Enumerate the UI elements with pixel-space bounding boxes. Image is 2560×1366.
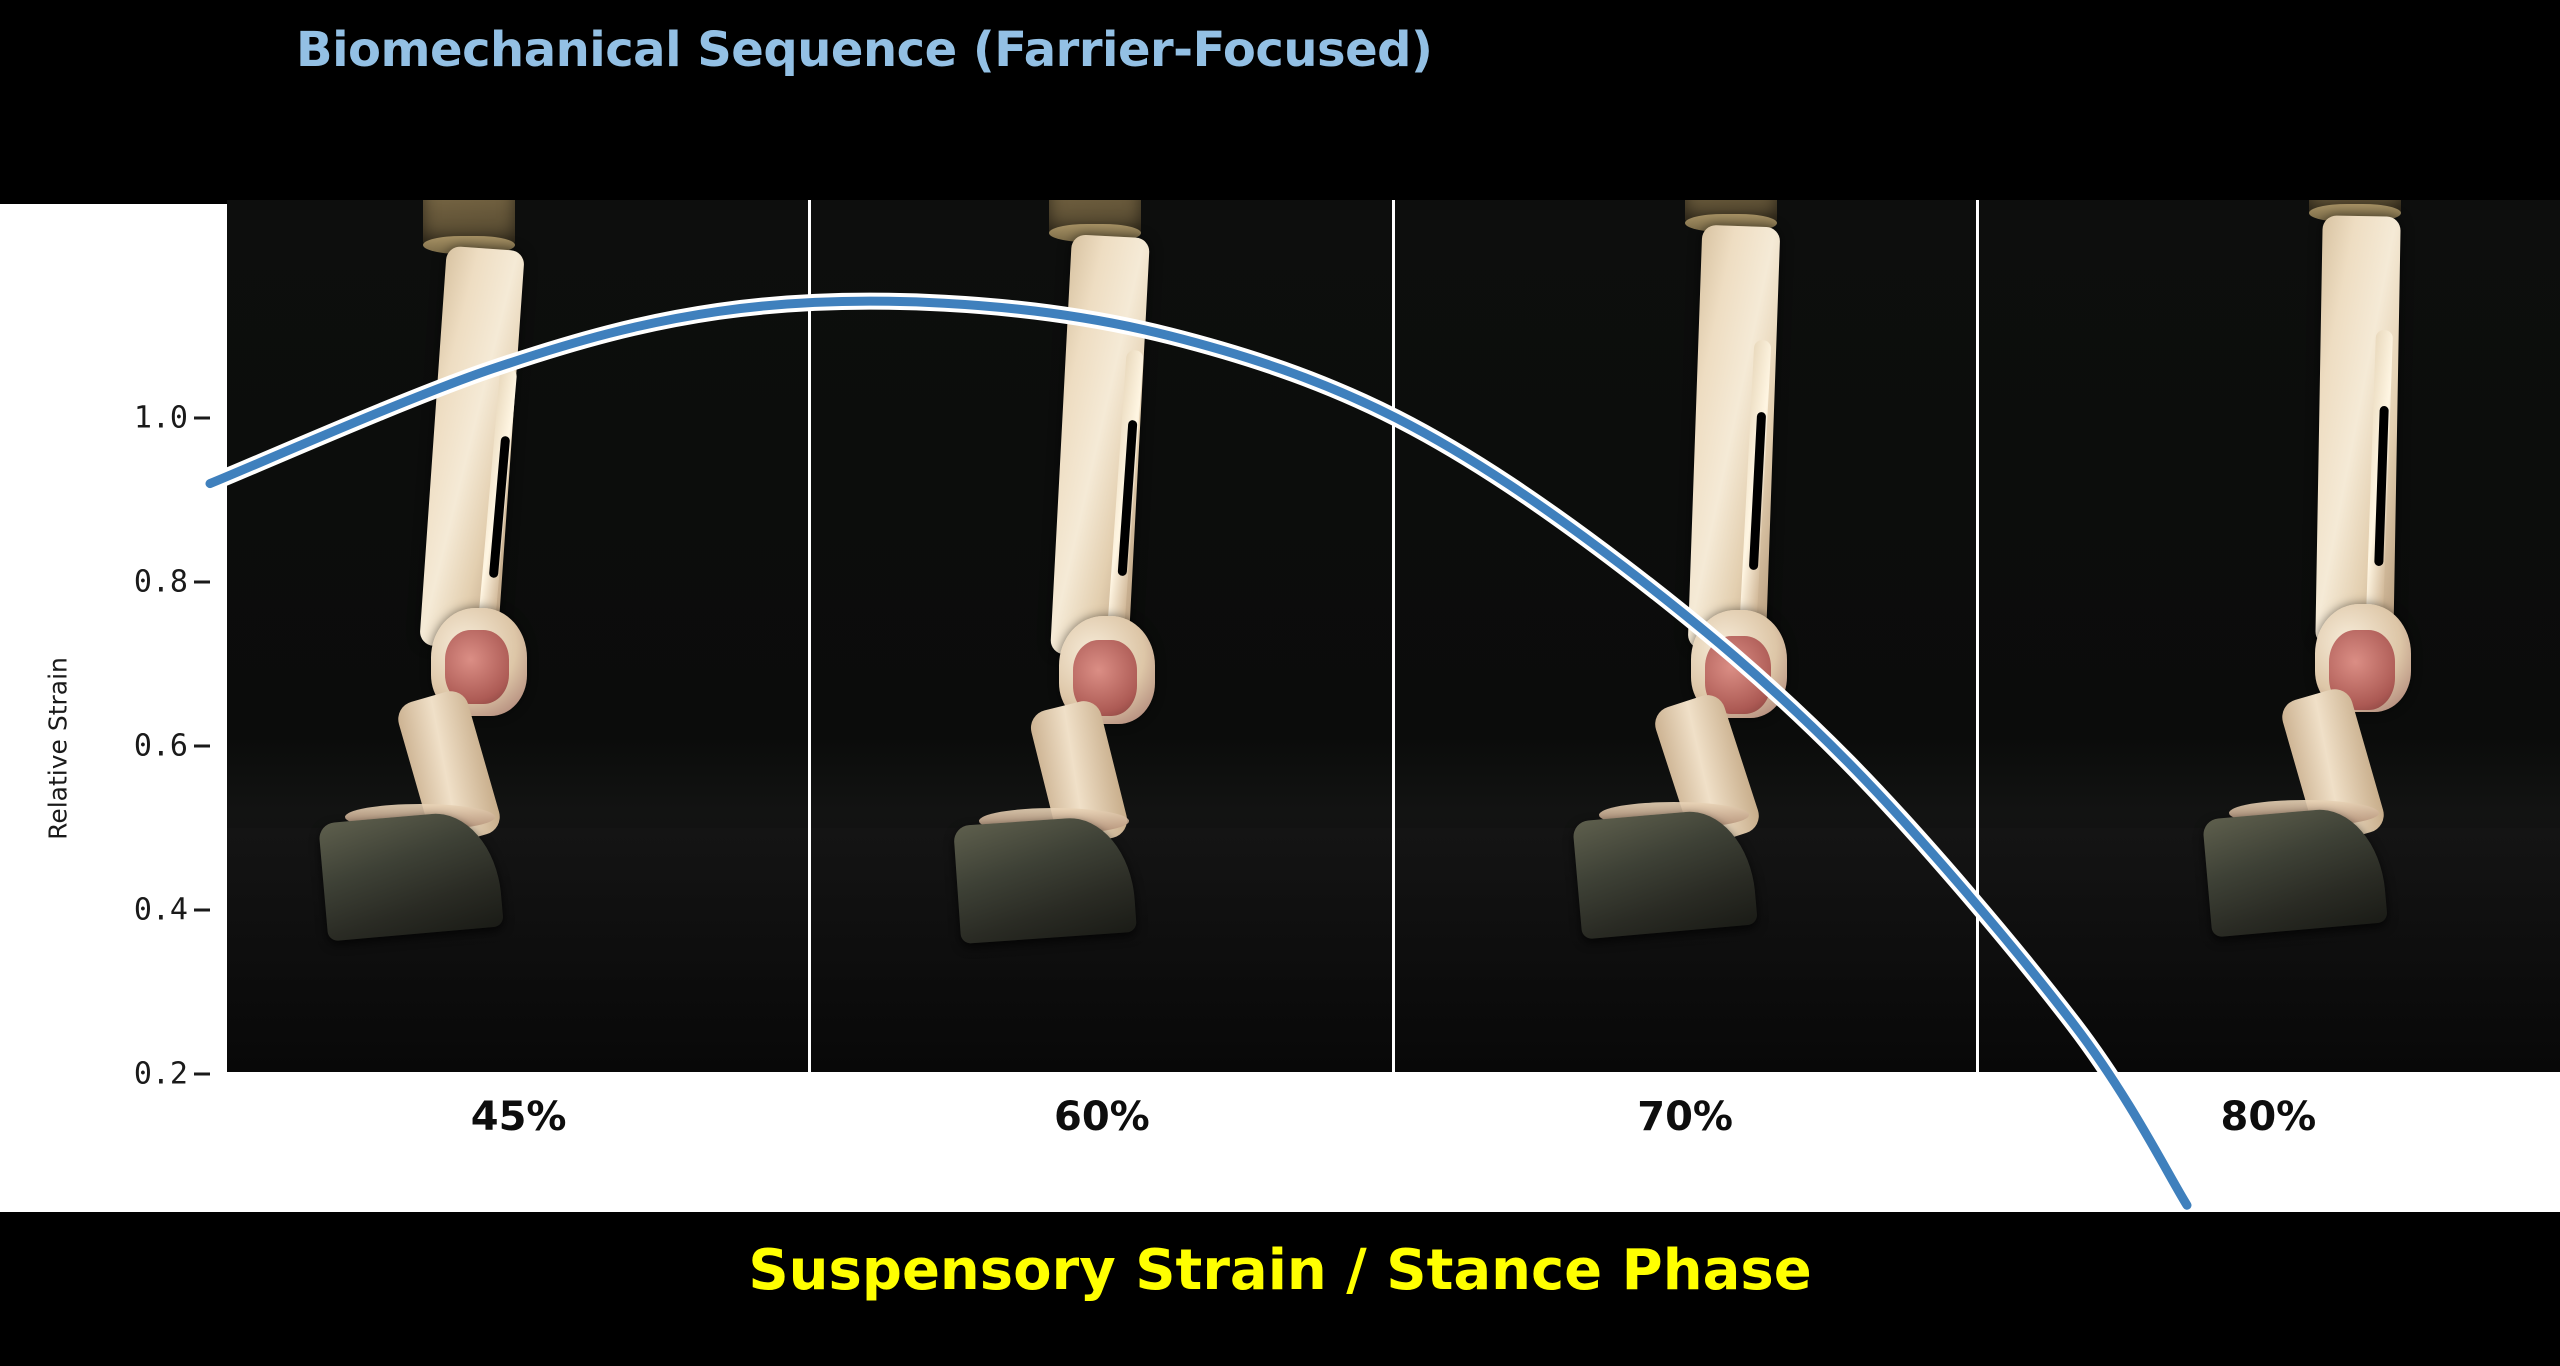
y-tick-mark xyxy=(194,581,210,584)
y-tick-label: 0.2 xyxy=(134,1057,188,1092)
y-tick-label: 0.6 xyxy=(134,729,188,764)
y-tick-mark xyxy=(194,909,210,912)
limb-panel-45 xyxy=(227,200,811,1072)
x-tick-label-70: 70% xyxy=(1394,1094,1977,1184)
caption-band: Suspensory Strain / Stance Phase xyxy=(0,1212,2560,1366)
cannon-bone xyxy=(1688,225,1781,651)
figure-area: Relative Strain 1.0 0.8 0.6 0.4 0.2 0.0 xyxy=(0,204,2560,1212)
y-axis-label: Relative Strain xyxy=(44,629,73,869)
y-tick-mark xyxy=(194,745,210,748)
limb-panel-80 xyxy=(1979,200,2560,1072)
limb-panel-60 xyxy=(811,200,1395,1072)
y-tick-label: 0.8 xyxy=(134,565,188,600)
figure-caption: Suspensory Strain / Stance Phase xyxy=(0,1238,2560,1303)
title-band: Biomechanical Sequence (Farrier-Focused) xyxy=(0,0,2560,204)
limb-photo-strip xyxy=(227,200,2560,1072)
y-axis-ticks: 1.0 0.8 0.6 0.4 0.2 0.0 xyxy=(100,204,210,1212)
x-axis-ticks: 45% 60% 70% 80% xyxy=(227,1094,2560,1184)
slide-root: Biomechanical Sequence (Farrier-Focused)… xyxy=(0,0,2560,1366)
x-tick-label-60: 60% xyxy=(810,1094,1393,1184)
y-tick-label: 1.0 xyxy=(134,401,188,436)
page-title: Biomechanical Sequence (Farrier-Focused) xyxy=(296,22,1432,78)
y-tick-mark xyxy=(194,417,210,420)
panel-ground-shadow xyxy=(227,828,808,1072)
x-tick-label-80: 80% xyxy=(1977,1094,2560,1184)
x-tick-label-45: 45% xyxy=(227,1094,810,1184)
limb-panel-70 xyxy=(1395,200,1979,1072)
y-tick-mark xyxy=(194,1073,210,1076)
y-tick-label: 0.4 xyxy=(134,893,188,928)
